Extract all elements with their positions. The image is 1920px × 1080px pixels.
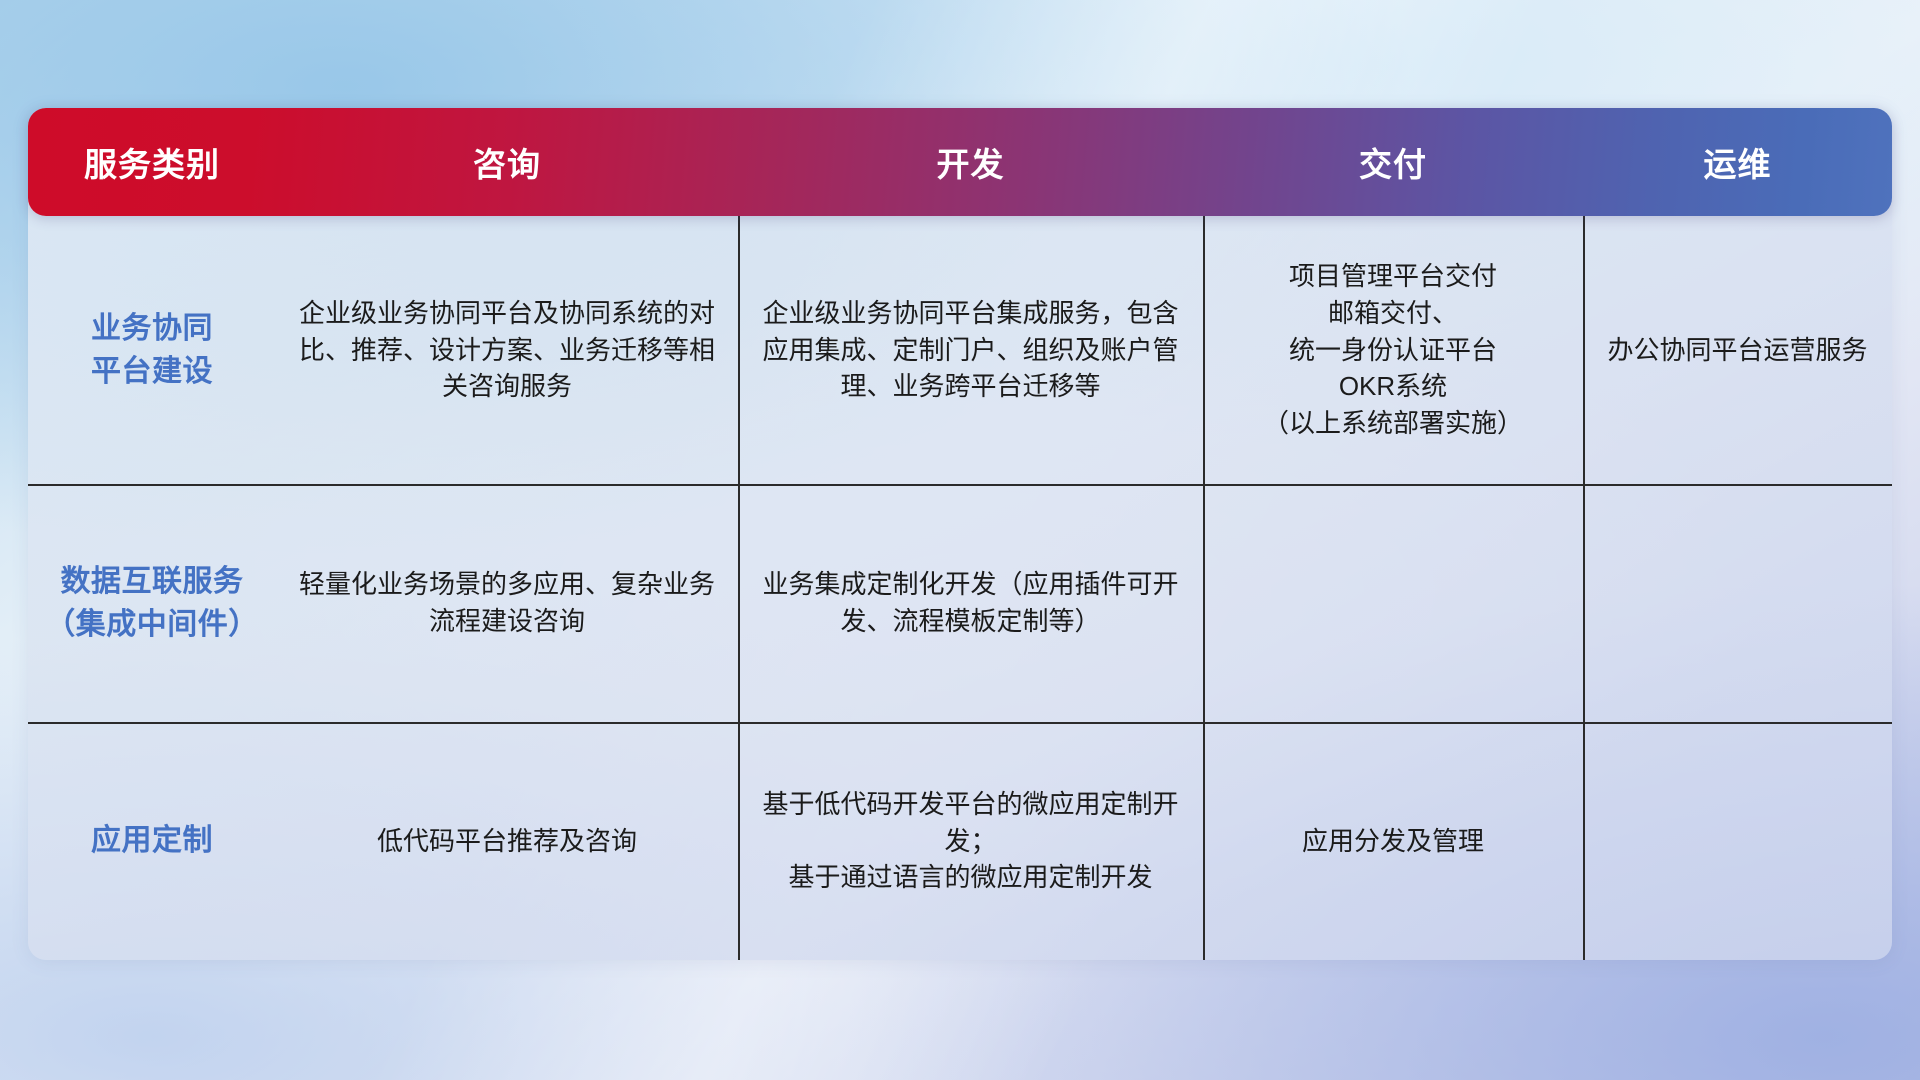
cell-delivery-business-collaboration: 项目管理平台交付 邮箱交付、 统一身份认证平台 OKR系统 （以上系统部署实施）: [1203, 216, 1583, 484]
header-cell-development: 开发: [738, 138, 1203, 186]
header-cell-consulting: 咨询: [276, 138, 738, 186]
row-label-data-interconnect: 数据互联服务 （集成中间件）: [28, 484, 276, 722]
table-header-row: 服务类别 咨询 开发 交付 运维: [28, 108, 1892, 216]
cell-operations-business-collaboration: 办公协同平台运营服务: [1583, 216, 1892, 484]
table-row: 业务协同 平台建设 企业级业务协同平台及协同系统的对比、推荐、设计方案、业务迁移…: [28, 216, 1892, 484]
header-cell-operations: 运维: [1583, 138, 1892, 186]
row-label-business-collaboration: 业务协同 平台建设: [28, 216, 276, 484]
cell-consulting-data-interconnect: 轻量化业务场景的多应用、复杂业务流程建设咨询: [276, 484, 738, 722]
header-cell-service-category: 服务类别: [28, 138, 276, 186]
cell-delivery-app-customization: 应用分发及管理: [1203, 722, 1583, 960]
cell-development-business-collaboration: 企业级业务协同平台集成服务，包含应用集成、定制门户、组织及账户管理、业务跨平台迁…: [738, 216, 1203, 484]
row-label-app-customization: 应用定制: [28, 722, 276, 960]
table-row: 应用定制 低代码平台推荐及咨询 基于低代码开发平台的微应用定制开发； 基于通过语…: [28, 722, 1892, 960]
cell-operations-data-interconnect: [1583, 484, 1892, 722]
service-matrix-table: 服务类别 咨询 开发 交付 运维 业务协同 平台建设 企业级业务协同平台及协同系…: [28, 108, 1892, 960]
table-row: 数据互联服务 （集成中间件） 轻量化业务场景的多应用、复杂业务流程建设咨询 业务…: [28, 484, 1892, 722]
cell-delivery-data-interconnect: [1203, 484, 1583, 722]
cell-development-data-interconnect: 业务集成定制化开发（应用插件可开发、流程模板定制等）: [738, 484, 1203, 722]
cell-consulting-business-collaboration: 企业级业务协同平台及协同系统的对比、推荐、设计方案、业务迁移等相关咨询服务: [276, 216, 738, 484]
table-body: 业务协同 平台建设 企业级业务协同平台及协同系统的对比、推荐、设计方案、业务迁移…: [28, 216, 1892, 960]
cell-consulting-app-customization: 低代码平台推荐及咨询: [276, 722, 738, 960]
cell-operations-app-customization: [1583, 722, 1892, 960]
header-cell-delivery: 交付: [1203, 138, 1583, 186]
cell-development-app-customization: 基于低代码开发平台的微应用定制开发； 基于通过语言的微应用定制开发: [738, 722, 1203, 960]
